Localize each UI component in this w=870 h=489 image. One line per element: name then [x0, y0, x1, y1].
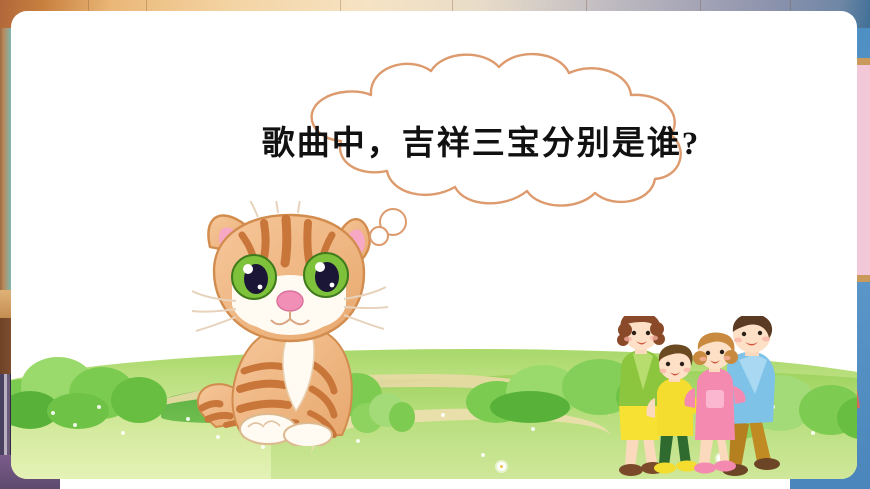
thought-bubble-tail: [369, 208, 419, 250]
bush-cluster-left: [11, 353, 181, 427]
content-card: 歌曲中，吉祥三宝分别是谁?: [11, 11, 857, 479]
daisy-flower: [497, 462, 506, 471]
bubble-question-text: 歌曲中，吉祥三宝分别是谁?: [251, 57, 711, 209]
slide-canvas: J C F A b ~: [0, 0, 870, 489]
family-illustration: [609, 316, 789, 479]
thought-bubble: 歌曲中，吉祥三宝分别是谁?: [251, 57, 711, 209]
